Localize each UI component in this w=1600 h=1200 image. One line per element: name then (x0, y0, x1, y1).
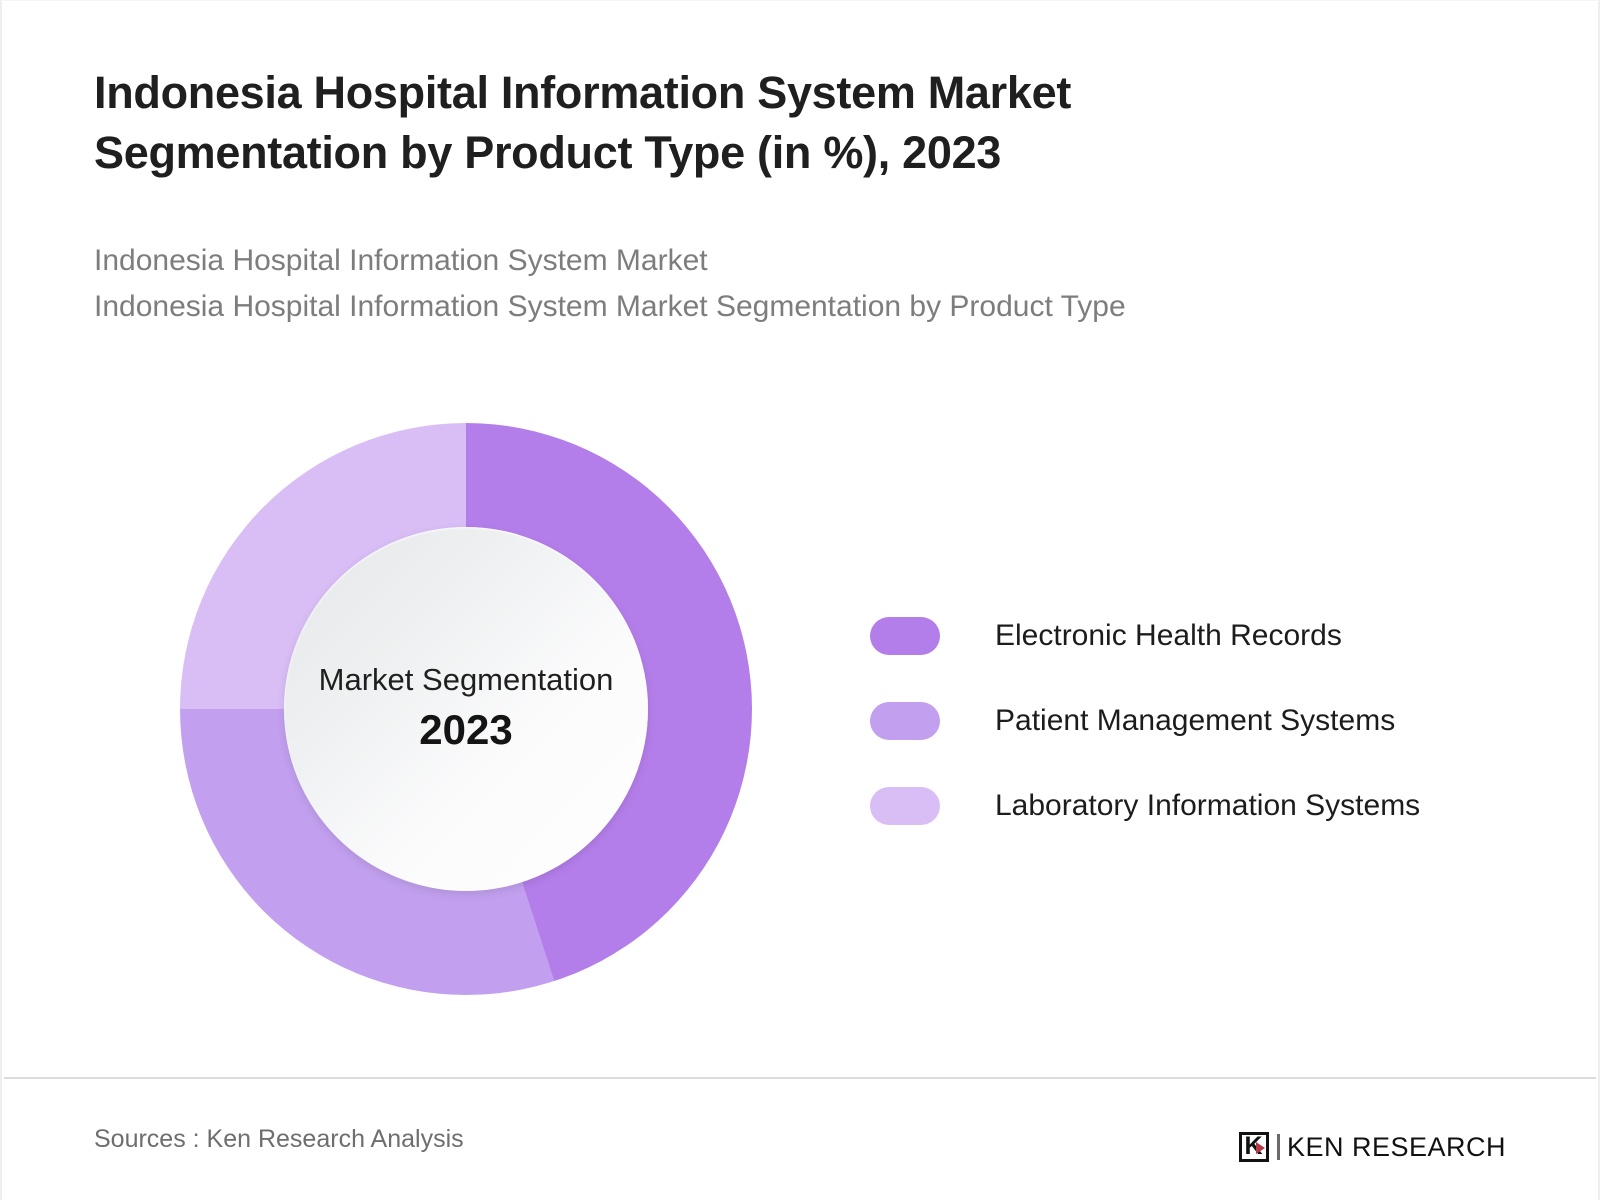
subtitle-line-segmentation: Indonesia Hospital Information System Ma… (94, 284, 1414, 331)
chart-legend: Electronic Health RecordsPatient Managem… (870, 593, 1530, 848)
legend-item-label: Laboratory Information Systems (995, 789, 1420, 823)
page-title: Indonesia Hospital Information System Ma… (94, 63, 1244, 183)
donut-chart: Market Segmentation 2023 (180, 423, 752, 995)
logo-separator (1277, 1134, 1280, 1160)
legend-swatch-icon (870, 617, 940, 655)
legend-item[interactable]: Electronic Health Records (870, 593, 1530, 678)
ken-research-logo: K KEN RESEARCH (1239, 1132, 1506, 1162)
legend-swatch-icon (870, 702, 940, 740)
chart-header: Indonesia Hospital Information System Ma… (94, 63, 1414, 331)
legend-swatch-icon (870, 787, 940, 825)
legend-item-label: Electronic Health Records (995, 619, 1342, 653)
chart-area: Market Segmentation 2023 Electronic Heal… (2, 401, 1600, 1061)
sources-text: Sources : Ken Research Analysis (94, 1125, 464, 1154)
donut-center-label: Market Segmentation (319, 661, 614, 698)
legend-item-label: Patient Management Systems (995, 704, 1395, 738)
donut-center-value: 2023 (419, 704, 512, 757)
subtitle-line-market: Indonesia Hospital Information System Ma… (94, 238, 1414, 285)
legend-item[interactable]: Laboratory Information Systems (870, 763, 1530, 848)
logo-box-icon: K (1239, 1132, 1269, 1162)
breadcrumb: Indonesia Hospital Information System Ma… (94, 238, 1414, 332)
chart-card: Indonesia Hospital Information System Ma… (0, 0, 1600, 1200)
legend-item[interactable]: Patient Management Systems (870, 678, 1530, 763)
logo-wordmark: KEN RESEARCH (1287, 1134, 1506, 1161)
donut-center: Market Segmentation 2023 (284, 527, 648, 891)
logo-triangle-icon (1256, 1142, 1265, 1154)
chart-footer: Sources : Ken Research Analysis K KEN RE… (2, 1079, 1600, 1199)
